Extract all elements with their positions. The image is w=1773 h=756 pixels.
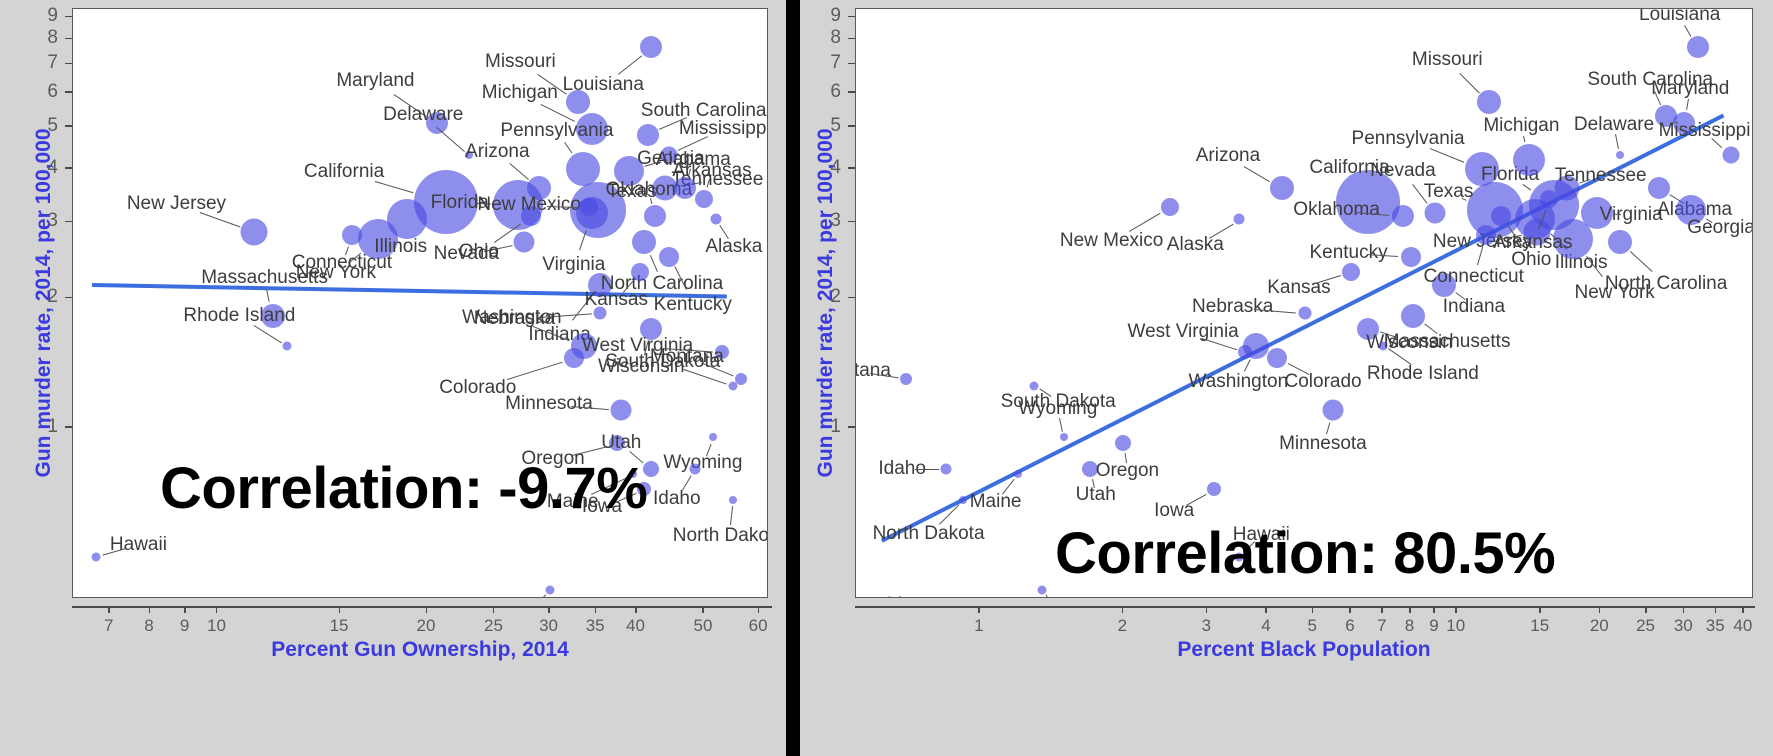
label-leader-line (1244, 166, 1270, 182)
data-point-bubble (1243, 333, 1269, 359)
data-point-bubble (640, 36, 662, 58)
label-leader-line (1523, 136, 1525, 142)
data-point-label: Colorado (439, 377, 516, 399)
label-leader-line (253, 325, 282, 343)
data-point-label: Minnesota (505, 393, 593, 415)
x-tick-label: 40 (626, 616, 645, 636)
data-point-label: Indiana (1443, 296, 1505, 318)
data-point-label: Michigan (482, 82, 558, 104)
data-point-label: Hawaii (110, 534, 167, 556)
label-leader-line (1615, 134, 1619, 149)
left-scatter-panel: HawaiiNew JerseyMassachusettsRhode Islan… (0, 0, 786, 756)
data-point-bubble (1322, 399, 1343, 420)
x-tick-label: 3 (1202, 616, 1211, 636)
data-point-label: North Dakota (873, 523, 985, 545)
data-point-label: Washington (462, 307, 562, 329)
right-plot-area: VermontMontanaIdahoNorth DakotaSouth Dak… (855, 8, 1753, 598)
data-point-label: Massachusetts (1384, 331, 1511, 353)
y-tick-label: 6 (30, 81, 58, 103)
y-tick (848, 167, 855, 169)
label-leader-line (1684, 25, 1691, 37)
data-point-label: Utah (1076, 484, 1116, 506)
y-tick (848, 38, 855, 40)
left-correlation-annotation: Correlation: -9.7% (160, 455, 647, 522)
data-point-bubble (729, 496, 737, 504)
x-tick-label: 1 (974, 616, 983, 636)
data-point-bubble (1513, 144, 1545, 176)
data-point-label: Arkansas (672, 160, 751, 182)
data-point-label: Pennsylvania (1352, 128, 1465, 150)
data-point-bubble (1060, 433, 1068, 441)
data-point-label: Michigan (1483, 115, 1559, 137)
data-point-label: Maryland (336, 70, 414, 92)
data-point-label: Arizona (465, 141, 529, 163)
data-point-bubble (710, 214, 721, 225)
label-leader-line (507, 362, 563, 380)
data-point-label: Kentucky (654, 294, 732, 316)
data-point-bubble (900, 373, 912, 385)
data-point-label: Arkansas (1493, 232, 1572, 254)
right-x-axis-title: Percent Black Population (1177, 638, 1430, 662)
label-leader-line (1630, 251, 1653, 272)
x-tick-label: 50 (694, 616, 713, 636)
data-point-label: Connecticut (1424, 266, 1524, 288)
x-tick-label: 5 (1307, 616, 1316, 636)
x-tick-label: 8 (1405, 616, 1414, 636)
y-tick (65, 426, 72, 428)
y-tick-label: 9 (813, 5, 841, 27)
x-tick-label: 4 (1261, 616, 1270, 636)
data-point-bubble (387, 199, 427, 239)
y-tick (848, 125, 855, 127)
data-point-label: Montana (855, 360, 891, 382)
data-point-bubble (1687, 36, 1709, 58)
data-point-bubble (959, 496, 967, 504)
x-tick-label: 9 (1429, 616, 1438, 636)
y-tick (65, 38, 72, 40)
data-point-bubble (545, 585, 554, 594)
data-point-label: Ohio (459, 241, 499, 263)
y-tick-label: 7 (30, 52, 58, 74)
label-leader-line (1686, 99, 1689, 110)
data-point-bubble (1115, 435, 1131, 451)
y-tick-label: 9 (30, 5, 58, 27)
data-point-bubble (611, 399, 632, 420)
data-point-label: Illinois (374, 236, 427, 258)
y-tick (65, 91, 72, 93)
x-tick-label: 25 (484, 616, 503, 636)
data-point-bubble (689, 464, 700, 475)
data-point-bubble (695, 190, 713, 208)
x-axis-spine (72, 606, 772, 608)
label-leader-line (564, 142, 572, 153)
y-tick-label: 8 (813, 27, 841, 49)
data-point-label: North Carolina (1605, 273, 1728, 295)
data-point-label: Rhode Island (1367, 363, 1479, 385)
figure-root: HawaiiNew JerseyMassachusettsRhode Islan… (0, 0, 1773, 756)
y-tick (848, 297, 855, 299)
y-tick-label: 8 (30, 27, 58, 49)
data-point-bubble (1392, 205, 1414, 227)
label-leader-line (509, 163, 528, 180)
label-leader-line (1615, 213, 1621, 214)
data-point-bubble (1491, 206, 1511, 226)
data-point-label: Wyoming (663, 452, 742, 474)
label-leader-line (618, 56, 642, 75)
x-tick-label: 7 (104, 616, 113, 636)
data-point-label: Kansas (585, 289, 648, 311)
data-point-label: California (304, 161, 384, 183)
left-x-axis-title: Percent Gun Ownership, 2014 (271, 638, 569, 662)
data-point-bubble (564, 348, 584, 368)
y-tick (848, 63, 855, 65)
data-point-bubble (1030, 382, 1039, 391)
data-point-label: Mississippi (679, 118, 768, 140)
y-tick (65, 221, 72, 223)
data-point-bubble (644, 205, 666, 227)
data-point-bubble (941, 464, 952, 475)
data-point-label: Missouri (1412, 49, 1483, 71)
data-point-bubble (1037, 585, 1046, 594)
y-tick (848, 16, 855, 18)
data-point-label: New Jersey (127, 193, 226, 215)
y-tick-label: 2 (30, 286, 58, 308)
y-tick (65, 125, 72, 127)
x-tick-label: 40 (1733, 616, 1752, 636)
data-point-bubble (1608, 230, 1632, 254)
data-point-label: Alaska (705, 236, 762, 258)
data-point-label: New Mexico (477, 194, 580, 216)
y-tick (848, 426, 855, 428)
data-point-label: Alaska (1167, 234, 1224, 256)
data-point-bubble (1342, 263, 1360, 281)
right-scatter-panel: VermontMontanaIdahoNorth DakotaSouth Dak… (800, 0, 1773, 756)
data-point-bubble (632, 230, 656, 254)
label-leader-line (730, 506, 733, 525)
data-point-label: Idaho (653, 488, 701, 510)
y-tick-label: 6 (813, 81, 841, 103)
data-point-bubble (709, 433, 717, 441)
label-leader-line (374, 181, 413, 193)
label-leader-line (915, 469, 938, 470)
label-leader-line (1045, 595, 1056, 598)
data-point-label: Missouri (485, 51, 556, 73)
data-point-bubble (659, 247, 679, 267)
y-tick (848, 221, 855, 223)
data-point-label: Rhode Island (183, 305, 295, 327)
label-leader-line (436, 127, 464, 152)
data-point-bubble (576, 197, 608, 229)
x-tick-label: 35 (1706, 616, 1725, 636)
y-tick-label: 4 (30, 157, 58, 179)
data-point-label: Utah (601, 432, 641, 454)
y-tick (65, 16, 72, 18)
x-tick-label: 2 (1118, 616, 1127, 636)
x-tick-label: 35 (586, 616, 605, 636)
data-point-bubble (637, 124, 659, 146)
data-point-bubble (631, 263, 649, 281)
label-leader-line (1459, 73, 1479, 93)
x-tick-label: 60 (749, 616, 768, 636)
data-point-label: Wyoming (1018, 398, 1097, 420)
data-point-bubble (1207, 482, 1221, 496)
data-point-bubble (1014, 470, 1022, 478)
data-point-bubble (1298, 306, 1311, 319)
data-point-label: Louisiana (1639, 8, 1720, 26)
data-point-bubble (1401, 304, 1425, 328)
data-point-label: Oregon (1096, 460, 1159, 482)
x-tick-label: 10 (1446, 616, 1465, 636)
data-point-label: Mississippi (1659, 120, 1751, 142)
x-tick-label: 20 (1590, 616, 1609, 636)
data-point-bubble (92, 553, 101, 562)
data-point-bubble (514, 232, 535, 253)
y-tick-label: 5 (30, 115, 58, 137)
x-tick-label: 15 (1530, 616, 1549, 636)
label-leader-line (1129, 213, 1161, 232)
data-point-bubble (1270, 176, 1294, 200)
data-point-label: North Dakota (673, 525, 768, 547)
data-point-bubble (342, 225, 362, 245)
y-tick (65, 63, 72, 65)
label-leader-line (1244, 359, 1251, 371)
x-tick-label: 9 (180, 616, 189, 636)
data-point-label: Pennsylvania (500, 120, 613, 142)
data-point-label: Maryland (1651, 78, 1729, 100)
data-point-bubble (1616, 151, 1624, 159)
label-leader-line (649, 255, 657, 272)
y-tick (848, 91, 855, 93)
data-point-label: Delaware (1574, 114, 1654, 136)
data-point-bubble (1267, 348, 1287, 368)
data-point-label: Nevada (1370, 160, 1436, 182)
data-point-label: Oklahoma (1293, 199, 1380, 221)
data-point-bubble (1401, 247, 1421, 267)
x-tick-label: 30 (539, 616, 558, 636)
data-point-bubble (728, 382, 737, 391)
data-point-label: Colorado (1285, 371, 1362, 393)
data-point-label: Minnesota (1279, 433, 1367, 455)
data-point-bubble (1540, 190, 1558, 208)
x-tick-label: 7 (1377, 616, 1386, 636)
right-correlation-annotation: Correlation: 80.5% (1055, 520, 1555, 587)
y-tick-label: 3 (813, 210, 841, 232)
x-tick-label: 10 (207, 616, 226, 636)
data-point-label: Nebraska (1192, 296, 1273, 318)
data-point-label: New Mexico (1060, 230, 1163, 252)
data-point-label: Kentucky (1309, 242, 1387, 264)
y-tick-label: 2 (813, 286, 841, 308)
data-point-label: Louisiana (563, 74, 644, 96)
y-tick-label: 4 (813, 157, 841, 179)
data-point-label: South Dakota (605, 351, 720, 373)
data-point-label: Tennessee (1555, 165, 1647, 187)
data-point-bubble (1234, 214, 1245, 225)
data-point-label: Vermont (888, 594, 959, 598)
x-tick-label: 30 (1674, 616, 1693, 636)
data-point-label: Delaware (383, 104, 463, 126)
data-point-label: Virginia (1600, 204, 1663, 226)
data-point-bubble (1161, 198, 1179, 216)
data-point-bubble (1424, 203, 1445, 224)
y-tick-label: 3 (30, 210, 58, 232)
x-tick-label: 15 (330, 616, 349, 636)
x-tick-label: 20 (417, 616, 436, 636)
y-tick-label: 1 (813, 416, 841, 438)
data-point-label: Georgia (1687, 217, 1753, 239)
y-tick-label: 7 (813, 52, 841, 74)
data-point-label: Maine (970, 491, 1022, 513)
data-point-bubble (566, 152, 600, 186)
x-tick-label: 6 (1345, 616, 1354, 636)
y-tick (65, 297, 72, 299)
data-point-bubble (1477, 90, 1501, 114)
x-tick-label: 25 (1636, 616, 1655, 636)
label-leader-line (522, 595, 546, 598)
x-axis-spine (855, 606, 1755, 608)
x-tick-label: 8 (144, 616, 153, 636)
y-tick-label: 1 (30, 416, 58, 438)
data-point-label: Arizona (1196, 145, 1260, 167)
y-tick (65, 167, 72, 169)
data-point-label: West Virginia (1128, 321, 1239, 343)
data-point-bubble (1722, 147, 1739, 164)
y-tick-label: 5 (813, 115, 841, 137)
data-point-label: Washington (1189, 371, 1289, 393)
label-leader-line (1125, 453, 1127, 463)
data-point-bubble (283, 341, 292, 350)
data-point-bubble (241, 219, 268, 246)
label-leader-line (266, 289, 270, 302)
data-point-bubble (1648, 177, 1670, 199)
